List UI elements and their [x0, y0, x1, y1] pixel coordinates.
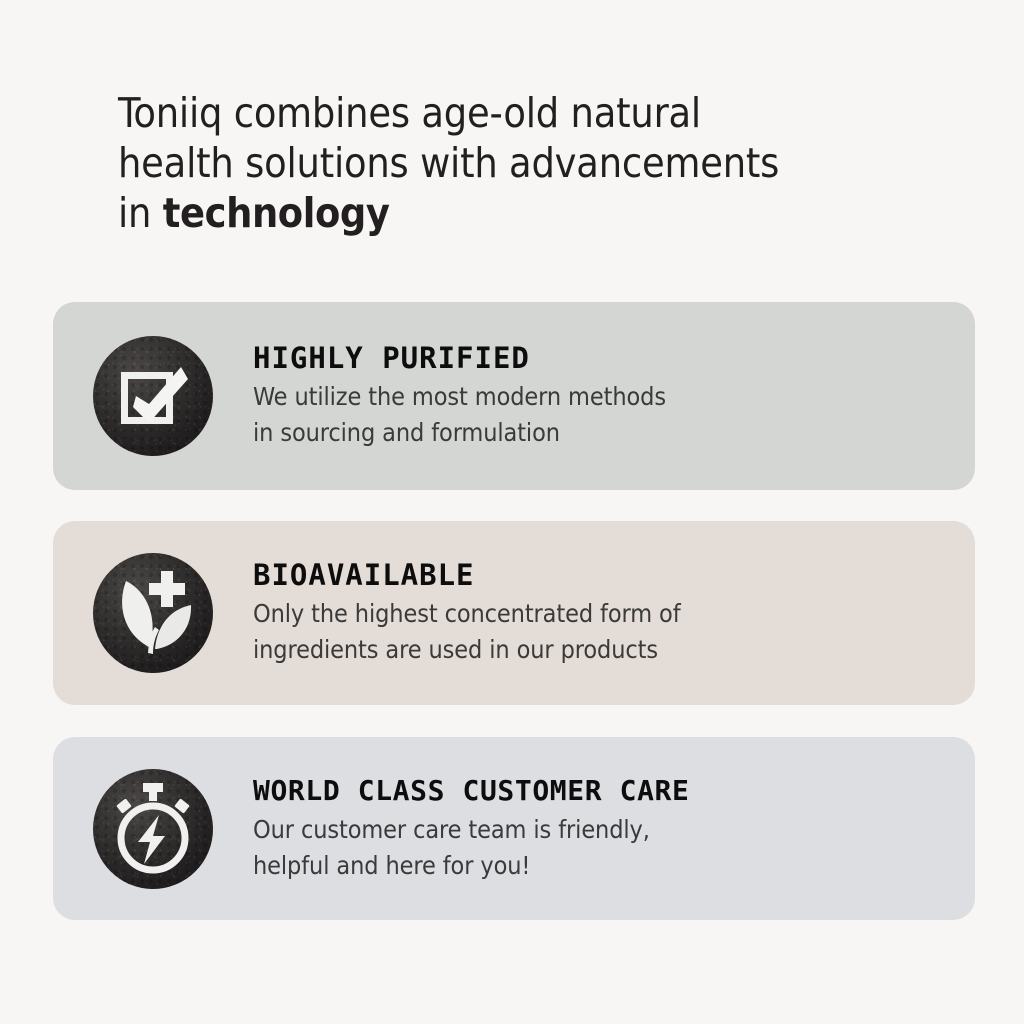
- feature-body-line-2: ingredients are used in our products: [253, 632, 945, 668]
- stopwatch-bolt-icon: [93, 769, 213, 889]
- feature-body-line-2: helpful and here for you!: [253, 848, 945, 884]
- checkbox-check-icon: [93, 336, 213, 456]
- feature-card-world-class-customer-care: WORLD CLASS CUSTOMER CARE Our customer c…: [53, 737, 975, 920]
- feature-text-block: BIOAVAILABLE Only the highest concentrat…: [253, 558, 975, 668]
- feature-body-line-1: Our customer care team is friendly,: [253, 812, 945, 848]
- page-title: Toniiq combines age-old natural health s…: [118, 88, 858, 238]
- feature-body-line-2: in sourcing and formulation: [253, 415, 945, 451]
- feature-icon-wrap: [93, 336, 213, 456]
- feature-text-block: WORLD CLASS CUSTOMER CARE Our customer c…: [253, 774, 975, 884]
- feature-heading: HIGHLY PURIFIED: [253, 341, 945, 375]
- headline-line-2: health solutions with advancements: [118, 138, 858, 188]
- headline-line-3: in technology: [118, 188, 858, 238]
- feature-body-line-1: We utilize the most modern methods: [253, 379, 945, 415]
- feature-heading: WORLD CLASS CUSTOMER CARE: [253, 774, 945, 808]
- feature-body-line-1: Only the highest concentrated form of: [253, 596, 945, 632]
- feature-icon-wrap: [93, 553, 213, 673]
- headline-prefix: in: [118, 189, 163, 237]
- feature-heading: BIOAVAILABLE: [253, 558, 945, 592]
- headline-line-1: Toniiq combines age-old natural: [118, 88, 858, 138]
- feature-card-bioavailable: BIOAVAILABLE Only the highest concentrat…: [53, 521, 975, 705]
- feature-card-highly-purified: HIGHLY PURIFIED We utilize the most mode…: [53, 302, 975, 490]
- infographic-page: Toniiq combines age-old natural health s…: [0, 0, 1024, 1024]
- feature-icon-wrap: [93, 769, 213, 889]
- feature-text-block: HIGHLY PURIFIED We utilize the most mode…: [253, 341, 975, 451]
- leaf-plus-icon: [93, 553, 213, 673]
- headline-emphasis: technology: [163, 189, 390, 237]
